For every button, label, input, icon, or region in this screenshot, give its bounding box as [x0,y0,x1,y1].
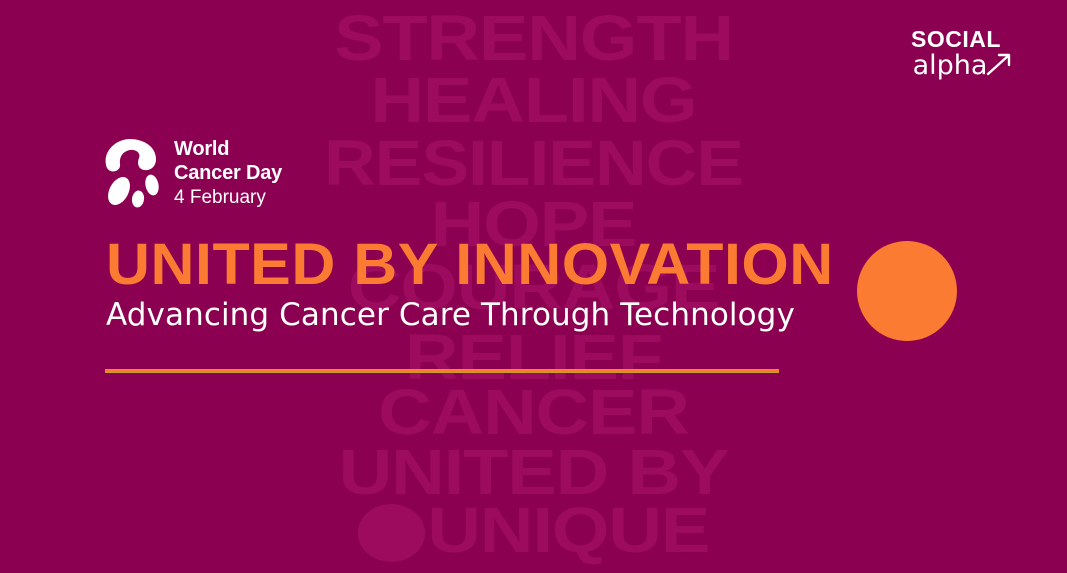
social-alpha-wordmark-top: SOCIAL [911,26,1001,52]
page-subtitle: Advancing Cancer Care Through Technology [106,298,795,332]
wcd-line-cancer-day: Cancer Day [174,162,282,186]
social-alpha-wordmark-bottom: alpha [913,50,988,80]
wcd-line-world: World [174,138,282,162]
world-cancer-day-text: World Cancer Day 4 February [174,136,282,211]
world-cancer-day-unity-icon-svg [100,137,162,209]
world-cancer-day-lockup: World Cancer Day 4 February [100,136,282,211]
social-alpha-logo: SOCIAL alpha [896,26,1016,80]
poster-canvas: STRENGTH HEALING RESILIENCE HOPE COURAGE… [0,0,1067,573]
social-alpha-logo-svg: SOCIAL alpha [896,26,1016,80]
orange-decorative-circle [857,241,957,341]
world-cancer-day-unity-icon [100,137,162,209]
page-title: UNITED BY INNOVATION [106,236,834,294]
wcd-line-date: 4 February [174,185,282,211]
arrow-up-right-icon [988,55,1009,74]
divider-rule [105,369,779,373]
poster-content: SOCIAL alpha World Cancer Day [0,0,1067,573]
